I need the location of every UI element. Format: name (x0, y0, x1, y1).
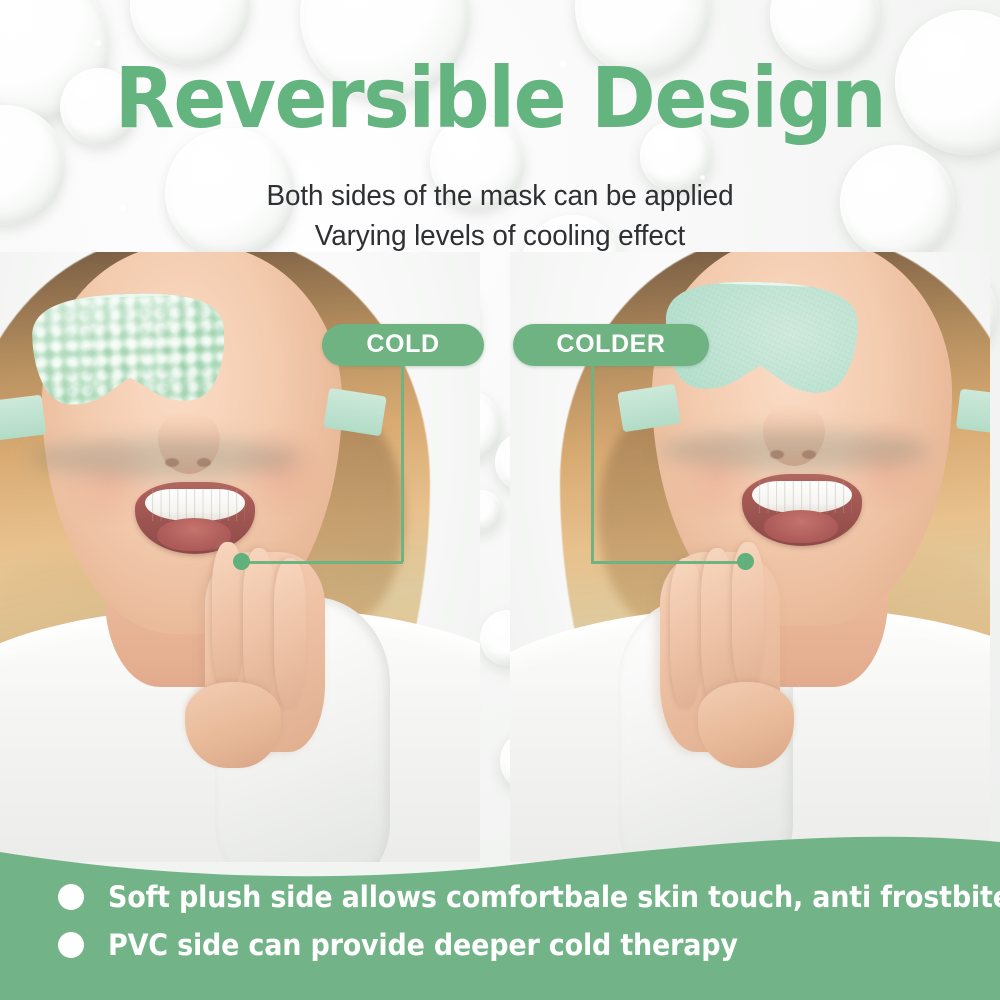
product-infographic: Reversible Design Both sides of the mask… (0, 0, 1000, 1000)
connector-dot-colder (737, 553, 754, 570)
bullet-dot-icon (58, 884, 84, 910)
bullet-dot-icon (58, 932, 84, 958)
callout-pill-cold-label: COLD (366, 330, 439, 359)
callout-pill-cold[interactable]: COLD (322, 324, 484, 366)
list-item: Soft plush side allows comfortbale skin … (58, 880, 978, 914)
connector-dot-cold (233, 553, 250, 570)
list-item: PVC side can provide deeper cold therapy (58, 928, 978, 962)
footer-bullet-list: Soft plush side allows comfortbale skin … (58, 880, 978, 962)
footer-banner: Soft plush side allows comfortbale skin … (0, 790, 1000, 1000)
callout-pill-colder-label: COLDER (556, 330, 665, 359)
bullet-text-1: Soft plush side allows comfortbale skin … (108, 880, 1000, 914)
bullet-text-2: PVC side can provide deeper cold therapy (108, 928, 738, 962)
callout-pill-colder[interactable]: COLDER (513, 324, 709, 366)
